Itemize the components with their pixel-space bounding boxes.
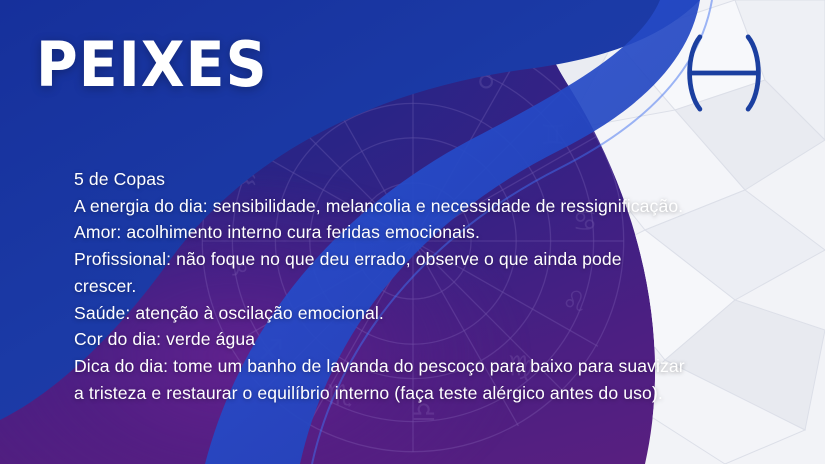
- reading-line: Saúde: atenção à oscilação emocional.: [74, 300, 734, 327]
- horoscope-card: ♈ ♉ ♊ ♋ ♌ ♍ ♎ ♏ ♐ ♑ ♒ ♓: [0, 0, 825, 464]
- pisces-glyph-icon: [681, 30, 767, 116]
- svg-text:♓: ♓: [303, 78, 328, 111]
- svg-text:♉: ♉: [473, 63, 498, 96]
- reading-line: 5 de Copas: [74, 166, 734, 193]
- reading-line: Cor do dia: verde água: [74, 326, 734, 353]
- reading-text: 5 de Copas A energia do dia: sensibilida…: [74, 166, 734, 407]
- reading-line: Profissional: não foque no que deu errad…: [74, 246, 734, 273]
- reading-line: a tristeza e restaurar o equilíbrio inte…: [74, 380, 734, 407]
- reading-line: crescer.: [74, 273, 734, 300]
- page-title: PEIXES: [36, 34, 268, 96]
- reading-line: A energia do dia: sensibilidade, melanco…: [74, 193, 734, 220]
- svg-text:♈: ♈: [400, 43, 425, 76]
- reading-line: Dica do dia: tome um banho de lavanda do…: [74, 353, 734, 380]
- reading-line: Amor: acolhimento interno cura feridas e…: [74, 219, 734, 246]
